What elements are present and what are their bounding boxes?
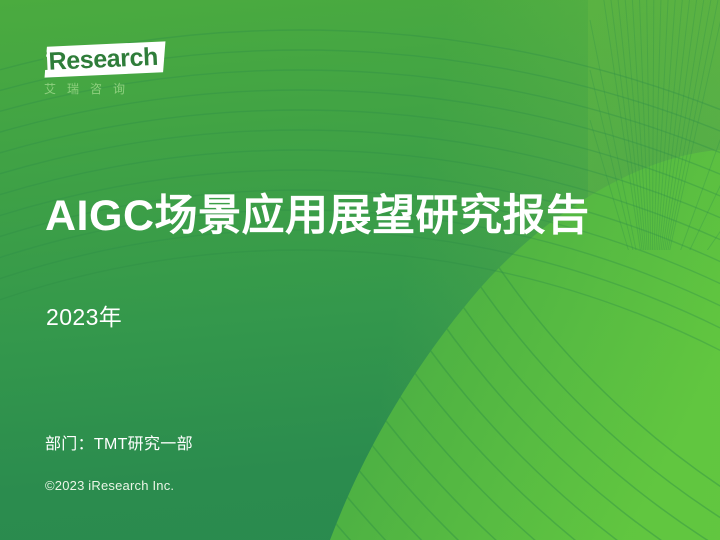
report-cover-slide: iResearch 艾瑞咨询 AIGC场景应用展望研究报告 2023年 部门：T… <box>0 0 720 540</box>
copyright-notice: ©2023 iResearch Inc. <box>45 478 174 493</box>
iresearch-logo: iResearch 艾瑞咨询 <box>40 42 200 104</box>
logo-text-research: Research <box>48 43 159 76</box>
page-title: AIGC场景应用展望研究报告 <box>45 192 590 240</box>
department-label: 部门：TMT研究一部 <box>45 430 193 454</box>
report-year: 2023年 <box>46 298 122 332</box>
logo-wordmark: iResearch <box>39 41 180 78</box>
background-panel-seam <box>588 0 720 250</box>
logo-chinese-name: 艾瑞咨询 <box>44 80 136 97</box>
